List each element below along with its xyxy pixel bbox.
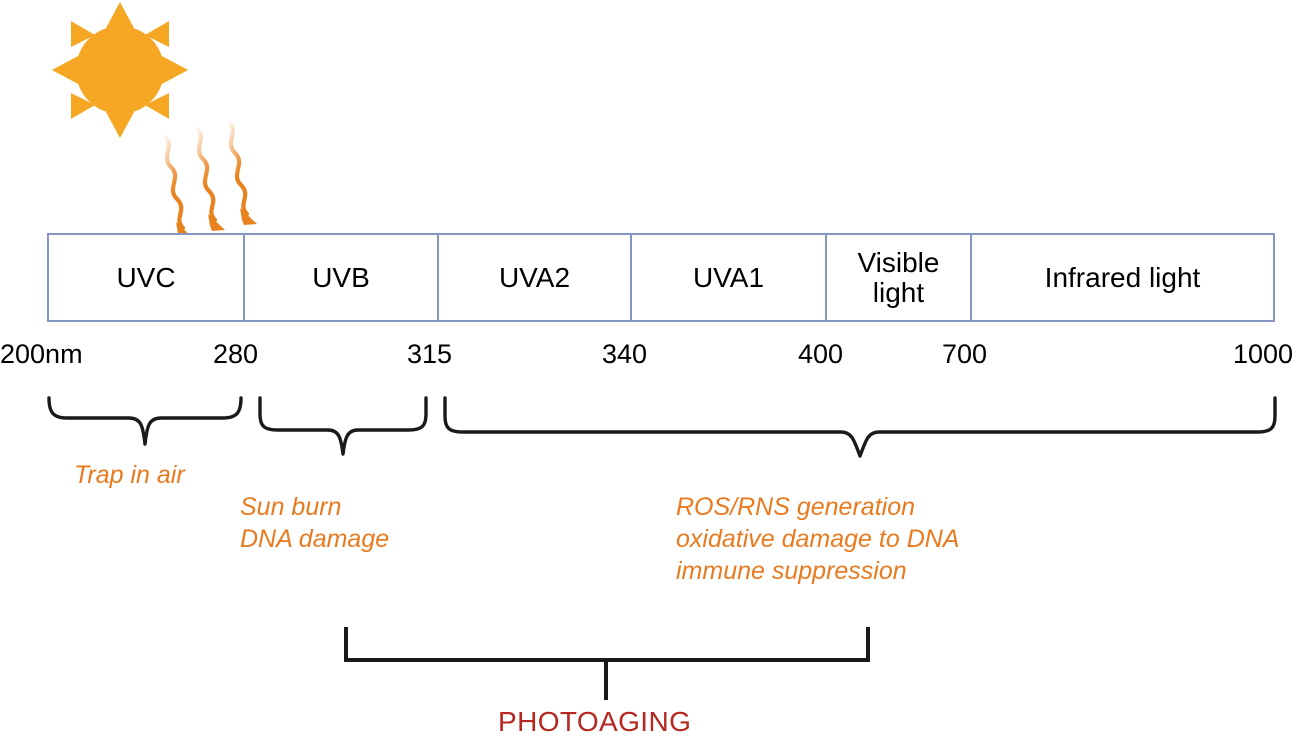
tick-label-700: 700 xyxy=(942,339,987,370)
tick-label-400: 400 xyxy=(798,339,843,370)
brace-uvc xyxy=(47,396,243,448)
band-uva1[interactable]: UVA1 xyxy=(632,235,827,320)
spectrum-bar: UVC UVB UVA2 UVA1 Visible light Infrared… xyxy=(47,233,1275,322)
band-uva2[interactable]: UVA2 xyxy=(439,235,632,320)
tick-label-200nm: 200nm xyxy=(0,339,83,370)
band-uvc[interactable]: UVC xyxy=(49,235,245,320)
sun-rays-icon xyxy=(140,120,320,250)
figure-canvas: UVC UVB UVA2 UVA1 Visible light Infrared… xyxy=(0,0,1305,742)
photoaging-label: PHOTOAGING xyxy=(498,706,691,738)
photoaging-bracket xyxy=(343,626,871,702)
brace-uvb xyxy=(258,396,428,456)
brace-label-ros-rns: ROS/RNS generation oxidative damage to D… xyxy=(676,491,959,587)
brace-uva-and-beyond xyxy=(443,396,1277,458)
band-uvb[interactable]: UVB xyxy=(245,235,439,320)
band-infrared-light[interactable]: Infrared light xyxy=(972,235,1273,320)
tick-label-315: 315 xyxy=(407,339,452,370)
tick-label-280: 280 xyxy=(213,339,258,370)
brace-label-sunburn-dna-damage: Sun burn DNA damage xyxy=(240,491,389,555)
tick-label-340: 340 xyxy=(602,339,647,370)
tick-label-1000: 1000 xyxy=(1233,339,1293,370)
brace-label-trap-in-air: Trap in air xyxy=(74,459,185,491)
band-visible-light[interactable]: Visible light xyxy=(827,235,972,320)
